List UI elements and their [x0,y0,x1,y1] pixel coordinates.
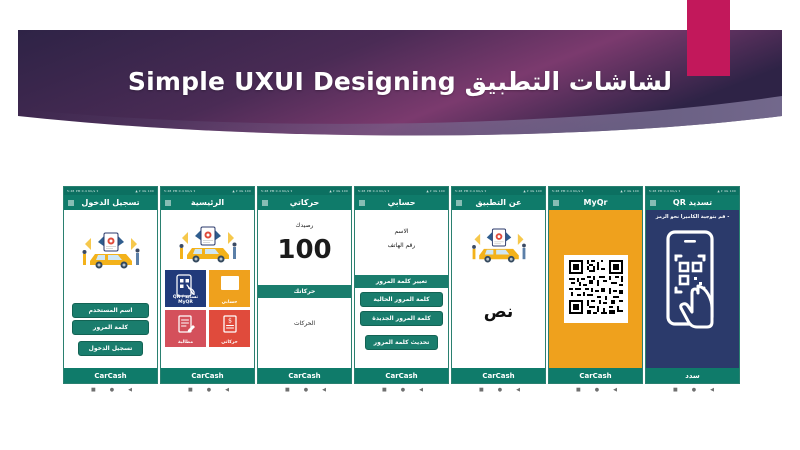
screen-body: - قم بتوجية الكاميرا نحو الرمز [646,210,739,368]
app-bar: عن التطبيق [452,195,545,210]
hamburger-icon[interactable] [650,200,656,205]
tile-label: حركاتي [221,341,238,346]
nav-square-icon[interactable]: ■ [285,388,290,393]
tile-claim[interactable]: مطالبة [165,310,206,347]
nav-home-icon[interactable]: ● [110,388,114,393]
balance-value: 100 [258,237,351,263]
status-right: ▲ ▾ 4G 100 [717,189,736,193]
username-field[interactable]: اسم المستخدم [72,303,149,318]
status-bar: 5:48 PM 0.4 Kb/s ▾ ▲ ▾ 4G 100 [646,187,739,195]
status-left: 5:48 PM 0.4 Kb/s ▾ [649,189,680,193]
status-left: 5:48 PM 0.4 Kb/s ▾ [455,189,486,193]
status-bar: 5:48 PM 0.4 Kb/s ▾ ▲ ▾ 4G 100 [64,187,157,195]
screen-body [549,210,642,368]
pink-accent-tab [687,0,730,76]
status-right: ▲ ▾ 4G 100 [523,189,542,193]
card-icon [219,274,241,298]
app-bar-title: تسجيل الدخول [81,198,139,207]
status-left: 5:48 PM 0.4 Kb/s ▾ [261,189,292,193]
nav-home-icon[interactable]: ● [498,388,502,393]
nav-square-icon[interactable]: ■ [91,388,96,393]
phone-screen-home: 5:48 PM 0.4 Kb/s ▾ ▲ ▾ 4G 100 الرئيسية [160,186,255,384]
app-bar: تسديد QR [646,195,739,210]
app-bar-title: حسابي [388,198,416,207]
car-app-illustration [452,226,545,266]
phone-screen-login: 5:48 PM 0.4 Kb/s ▾ ▲ ▾ 4G 100 تسجيل الدخ… [63,186,158,384]
car-app-illustration [161,224,254,266]
nav-square-icon[interactable]: ■ [576,388,581,393]
nav-back-icon[interactable]: ◀ [419,388,423,393]
document-edit-icon [176,314,196,340]
screen-body: نص [452,210,545,368]
hamburger-icon[interactable] [553,200,559,205]
slide-canvas: لشاشات التطبيق Simple UXUI Designing 5:4… [0,0,800,450]
status-bar: 5:48 PM 0.4 Kb/s ▾ ▲ ▾ 4G 100 [161,187,254,195]
qr-code-image [564,255,628,323]
app-bar-title: MyQr [584,198,608,207]
nav-square-icon[interactable]: ■ [382,388,387,393]
android-nav-bar: ■ ● ◀ [646,384,741,396]
nav-back-icon[interactable]: ◀ [710,388,714,393]
phone-screen-transactions: 5:48 PM 0.4 Kb/s ▾ ▲ ▾ 4G 100 حركاتي رصي… [257,186,352,384]
hamburger-icon[interactable] [359,200,365,205]
status-right: ▲ ▾ 4G 100 [329,189,348,193]
transactions-section-bar[interactable]: حركاتك [258,285,351,298]
nav-back-icon[interactable]: ◀ [613,388,617,393]
status-left: 5:48 PM 0.4 Kb/s ▾ [552,189,583,193]
hamburger-icon[interactable] [262,200,268,205]
nav-back-icon[interactable]: ◀ [225,388,229,393]
footer-brand: CarCash [549,368,642,383]
tile-transactions[interactable]: $ حركاتي [209,310,250,347]
screen-body: تسديد QR / MyQR حسابي [161,210,254,368]
svg-text:$: $ [228,318,232,325]
nav-home-icon[interactable]: ● [401,388,405,393]
tile-pay-qr[interactable]: تسديد QR / MyQR [165,270,206,307]
footer-brand: CarCash [161,368,254,383]
account-phone-label: رقم الهاتف [355,242,448,249]
phone-screen-scan-qr: 5:48 PM 0.4 Kb/s ▾ ▲ ▾ 4G 100 تسديد QR -… [645,186,740,384]
scan-instruction: - قم بتوجية الكاميرا نحو الرمز [646,210,739,222]
balance-label: رصيدك [258,222,351,229]
screen-body: رصيدك 100 حركاتك الحركات [258,210,351,368]
phone-screen-account: 5:48 PM 0.4 Kb/s ▾ ▲ ▾ 4G 100 حسابي الاس… [354,186,449,384]
status-right: ▲ ▾ 4G 100 [620,189,639,193]
tile-label: مطالبة [178,341,193,346]
status-bar: 5:48 PM 0.4 Kb/s ▾ ▲ ▾ 4G 100 [355,187,448,195]
status-bar: 5:48 PM 0.4 Kb/s ▾ ▲ ▾ 4G 100 [452,187,545,195]
app-bar-title: عن التطبيق [476,198,522,207]
android-nav-bar: ■ ● ◀ [549,384,644,396]
footer-brand: CarCash [452,368,545,383]
app-bar: حركاتي [258,195,351,210]
status-left: 5:48 PM 0.4 Kb/s ▾ [358,189,389,193]
receipt-icon: $ [220,314,240,340]
footer-brand: CarCash [258,368,351,383]
footer-brand: CarCash [355,368,448,383]
android-nav-bar: ■ ● ◀ [161,384,256,396]
android-nav-bar: ■ ● ◀ [355,384,450,396]
hamburger-icon[interactable] [68,200,74,205]
app-bar-title: تسديد QR [673,198,712,207]
nav-back-icon[interactable]: ◀ [128,388,132,393]
transactions-list-label: الحركات [258,320,351,327]
car-app-illustration [64,230,157,272]
current-password-field[interactable]: كلمة المرور الحالية [360,292,443,307]
nav-square-icon[interactable]: ■ [188,388,193,393]
update-password-button[interactable]: تحديث كلمة المرور [365,335,438,350]
nav-back-icon[interactable]: ◀ [322,388,326,393]
app-bar: MyQr [549,195,642,210]
about-body-text: نص [452,302,545,322]
android-nav-bar: ■ ● ◀ [258,384,353,396]
app-bar-title: حركاتي [290,198,320,207]
screen-body: الاسم رقم الهاتف تغيير كلمة المرور كلمة … [355,210,448,368]
qr-scan-phone-icon [646,226,739,334]
app-bar-title: الرئيسية [191,198,224,207]
status-bar: 5:48 PM 0.4 Kb/s ▾ ▲ ▾ 4G 100 [549,187,642,195]
home-tiles-grid: تسديد QR / MyQR حسابي [161,270,254,347]
tile-label: حسابي [222,301,238,306]
new-password-field[interactable]: كلمة المرور الجديدة [360,311,443,326]
android-nav-bar: ■ ● ◀ [64,384,159,396]
status-bar: 5:48 PM 0.4 Kb/s ▾ ▲ ▾ 4G 100 [258,187,351,195]
screen-body: اسم المستخدم كلمة المرور تسجيل الدخول [64,210,157,368]
qr-phone-icon [175,274,197,302]
status-left: 5:48 PM 0.4 Kb/s ▾ [164,189,195,193]
hamburger-icon[interactable] [165,200,171,205]
nav-home-icon[interactable]: ● [304,388,308,393]
password-field[interactable]: كلمة المرور [72,320,149,335]
change-password-button[interactable]: تغيير كلمة المرور [355,275,448,288]
phone-screen-about: 5:48 PM 0.4 Kb/s ▾ ▲ ▾ 4G 100 عن التطبيق [451,186,546,384]
app-bar: حسابي [355,195,448,210]
android-nav-bar: ■ ● ◀ [452,384,547,396]
tile-account[interactable]: حسابي [209,270,250,307]
status-left: 5:48 PM 0.4 Kb/s ▾ [67,189,98,193]
hamburger-icon[interactable] [456,200,462,205]
phone-screens-strip: 5:48 PM 0.4 Kb/s ▾ ▲ ▾ 4G 100 تسجيل الدخ… [63,186,740,384]
footer-brand: CarCash [64,368,157,383]
status-right: ▲ ▾ 4G 100 [426,189,445,193]
nav-back-icon[interactable]: ◀ [516,388,520,393]
status-right: ▲ ▾ 4G 100 [232,189,251,193]
title-banner [18,30,782,142]
login-button[interactable]: تسجيل الدخول [78,341,143,356]
pay-button[interactable]: سدد [646,368,739,383]
app-bar: الرئيسية [161,195,254,210]
nav-square-icon[interactable]: ■ [673,388,678,393]
nav-home-icon[interactable]: ● [595,388,599,393]
nav-square-icon[interactable]: ■ [479,388,484,393]
phone-screen-myqr: 5:48 PM 0.4 Kb/s ▾ ▲ ▾ 4G 100 MyQr [548,186,643,384]
status-right: ▲ ▾ 4G 100 [135,189,154,193]
account-name-label: الاسم [355,228,448,235]
app-bar: تسجيل الدخول [64,195,157,210]
nav-home-icon[interactable]: ● [207,388,211,393]
nav-home-icon[interactable]: ● [692,388,696,393]
